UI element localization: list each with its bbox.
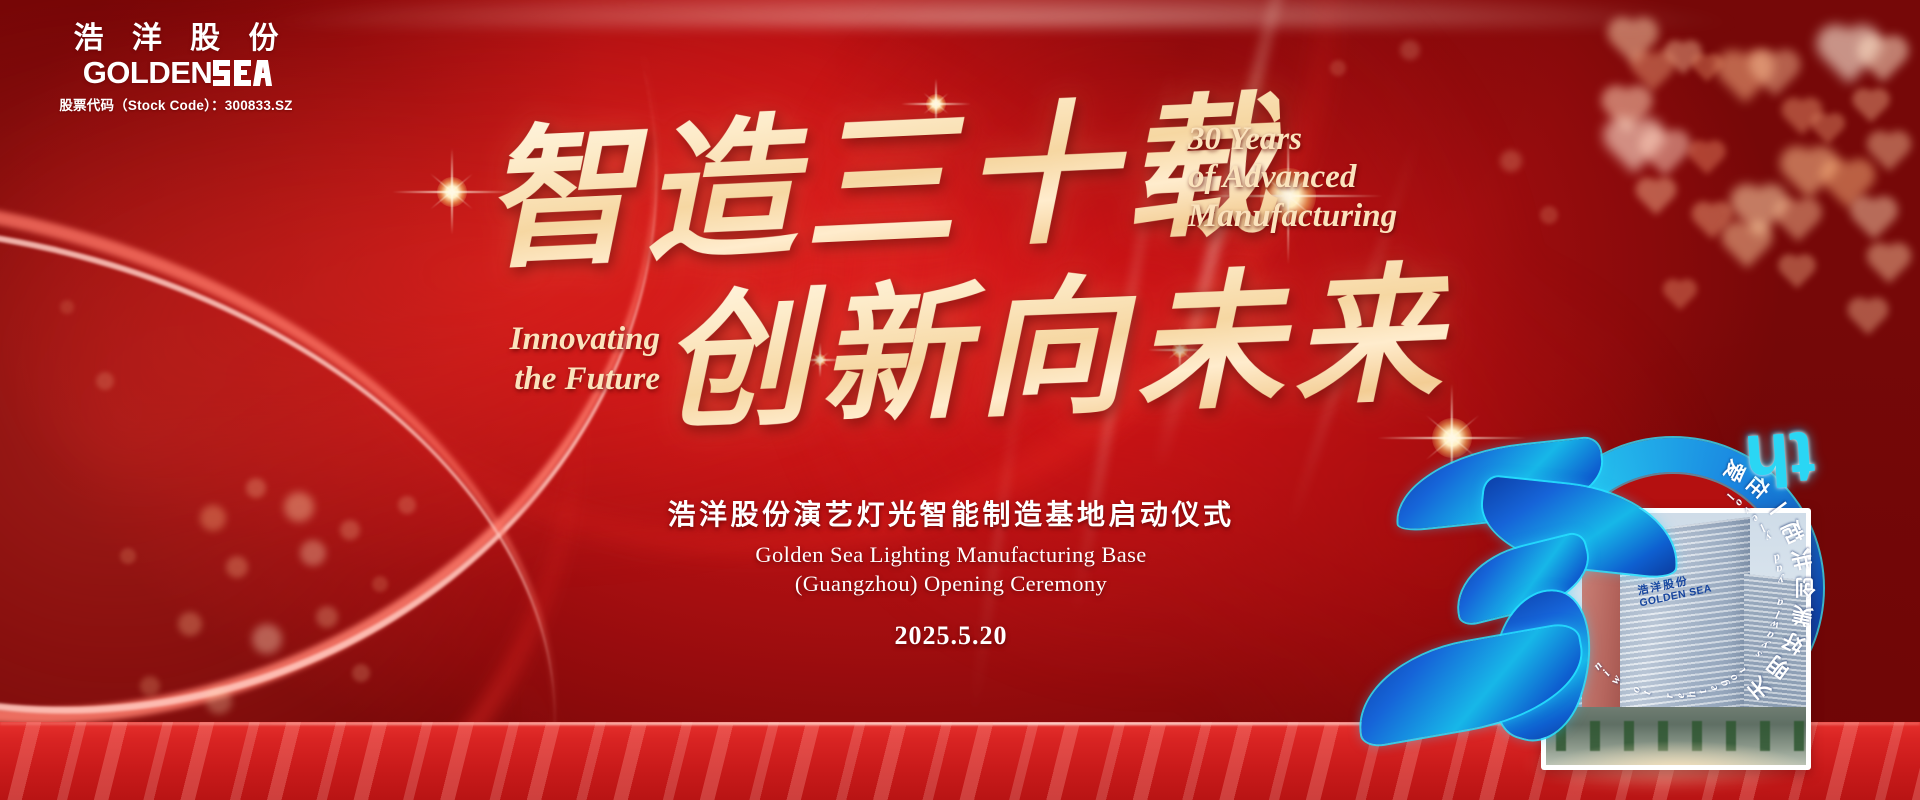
anniversary-graphic: 浩洋股份 GOLDEN SEA 520 爱在一起共创美好明天lovely day… [1345, 430, 1885, 800]
subtitle-english-line-2: (Guangzhou) Opening Ceremony [615, 569, 1287, 598]
ordinal-suffix-th: th [1743, 420, 1818, 499]
english-right-line-2: of Advanced [1188, 158, 1488, 196]
subtitle-chinese: 浩洋股份演艺灯光智能制造基地启动仪式 [615, 497, 1287, 532]
stock-code-label: 股票代码（Stock Code）：300833.SZ [36, 94, 316, 114]
company-logo[interactable]: 浩 洋 股 份 GOLDEN [36, 22, 316, 114]
subtitle-english-line-1: Golden Sea Lighting Manufacturing Base [615, 540, 1287, 569]
headline-line-2: 创新向未来 [656, 213, 1454, 458]
logo-english-lockup: GOLDEN [36, 57, 316, 88]
event-date: 2025.5.20 [615, 621, 1287, 651]
logo-english-word: GOLDEN [83, 57, 213, 88]
logo-sea-mark-icon [213, 58, 269, 88]
english-left-line-1: Innovating [380, 320, 660, 360]
event-subtitle-block: 浩洋股份演艺灯光智能制造基地启动仪式 Golden Sea Lighting M… [615, 497, 1287, 651]
foreground-content: 浩 洋 股 份 GOLDEN [0, 0, 1920, 800]
english-right-line-1: 30 Years [1188, 120, 1488, 158]
headline-line-2-text: 创新向未来 [657, 246, 1453, 450]
ring-text-char: 创 [1795, 573, 1816, 603]
ring-text-char: 共 [1788, 543, 1815, 577]
subtitle-english: Golden Sea Lighting Manufacturing Base (… [615, 540, 1287, 599]
english-slogan-left: Innovating the Future [380, 320, 660, 399]
english-slogan-right: 30 Years of Advanced Manufacturing [1188, 120, 1488, 235]
anniversary-banner: 浩 洋 股 份 GOLDEN [0, 0, 1920, 800]
logo-chinese-name: 浩 洋 股 份 [36, 22, 316, 55]
english-right-line-3: Manufacturing [1188, 197, 1488, 235]
english-left-line-2: the Future [380, 360, 660, 400]
